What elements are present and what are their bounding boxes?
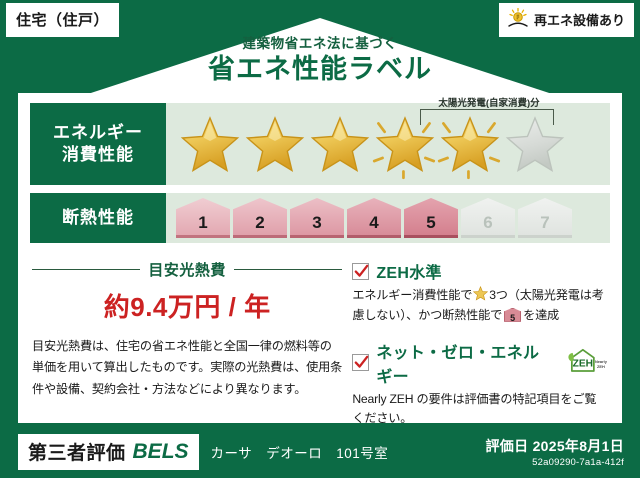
main-panel: エネルギー 消費性能 太陽光発電(自家消費)分 [18,93,622,423]
title-subtitle: 建築物省エネ法に基づく [0,36,640,52]
svg-text:ZEH: ZEH [573,358,593,369]
insulation-level-6: 6 [461,198,515,238]
net-zero-energy-block: ネット・ゼロ・エネルギー ZEH Nearly ZEH Nearly ZEH の… [352,339,608,430]
zeh-standard-header: ZEH水準 [352,259,608,283]
certification-column: ZEH水準 エネルギー消費性能で3つ（太陽光発電は考慮しない）、かつ断熱性能で5… [352,257,608,429]
solar-bracket-label: 太陽光発電(自家消費)分 [404,95,574,109]
mini-star-icon [473,286,488,301]
insulation-level-scale: 1 2 3 4 5 [166,198,572,238]
bels-en-label: BELS [133,440,189,464]
net-zero-header: ネット・ゼロ・エネルギー ZEH Nearly ZEH [352,339,608,387]
energy-performance-row: エネルギー 消費性能 太陽光発電(自家消費)分 [30,103,610,185]
energy-label-line1: エネルギー [53,122,143,144]
insulation-level-4: 4 [347,198,401,238]
star-6-empty [503,116,566,178]
bels-jp-label: 第三者評価 [28,438,126,465]
insulation-level-3: 3 [290,198,344,238]
zeh-desc-part1: エネルギー消費性能で [352,288,472,302]
insulation-level-number: 3 [290,198,344,238]
insulation-level-number: 2 [233,198,287,238]
rule-left [32,269,140,271]
net-zero-desc: Nearly ZEH の要件は評価書の特記項目をご覧ください。 [352,390,608,430]
net-zero-title: ネット・ゼロ・エネルギー [376,339,554,387]
insulation-level-number: 4 [347,198,401,238]
zeh-standard-title: ZEH水準 [376,259,442,283]
insulation-level-number: 6 [461,198,515,238]
utility-cost-value: 約9.4万円 / 年 [32,287,342,324]
property-name: カーサ デオーロ 101号室 [211,442,389,462]
star-5-solar [438,116,501,178]
utility-cost-heading-row: 目安光熱費 [32,259,342,280]
footer-bar: 第三者評価 BELS カーサ デオーロ 101号室 評価日 2025年8月1日 … [0,426,640,478]
star-3 [308,116,371,178]
renewable-equipment-tag: 再エネ設備あり [499,3,634,37]
checkbox-zeh-standard[interactable] [352,263,369,280]
utility-cost-column: 目安光熱費 約9.4万円 / 年 目安光熱費は、住宅の省エネ性能と全国一律の燃料… [32,257,342,429]
sun-icon [507,8,529,31]
bels-badge: 第三者評価 BELS [18,434,199,470]
zeh-desc-part2: を達成 [523,308,559,322]
lower-section: 目安光熱費 約9.4万円 / 年 目安光熱費は、住宅の省エネ性能と全国一律の燃料… [32,257,608,429]
energy-label-line2: 消費性能 [53,144,143,166]
star-1 [178,116,241,178]
evaluation-date: 評価日 2025年8月1日 [485,436,624,456]
housing-type-tag: 住宅（住戸） [6,3,119,37]
insulation-level-number: 1 [176,198,230,238]
insulation-level-5: 5 [404,198,458,238]
insulation-level-2: 2 [233,198,287,238]
label-title: 建築物省エネ法に基づく 省エネ性能ラベル [0,36,640,87]
check-icon [354,264,369,279]
insulation-performance-row: 断熱性能 1 2 3 [30,193,610,243]
utility-cost-heading: 目安光熱費 [148,259,226,280]
insulation-level-number: 5 [404,198,458,238]
checkbox-net-zero-energy[interactable] [352,354,369,371]
zeh-standard-desc: エネルギー消費性能で3つ（太陽光発電は考慮しない）、かつ断熱性能で5を達成 [352,286,608,326]
utility-cost-note: 目安光熱費は、住宅の省エネ性能と全国一律の燃料等の単価を用いて算出したものです。… [32,336,342,400]
zeh-standard-block: ZEH水準 エネルギー消費性能で3つ（太陽光発電は考慮しない）、かつ断熱性能で5… [352,259,608,326]
check-icon [354,355,369,370]
insulation-level-7: 7 [518,198,572,238]
star-rating [166,116,566,178]
rule-right [234,269,342,271]
insulation-level-1: 1 [176,198,230,238]
star-2 [243,116,306,178]
energy-label-root: 住宅（住戸） 再エネ設備あり 建築物省エネ法に基づく 省エネ性能ラベル [0,0,640,478]
evaluation-id: 52a09290-7a1a-412f [485,457,624,468]
zeh-badge-icon: ZEH Nearly ZEH [564,347,608,378]
energy-stars-area: 太陽光発電(自家消費)分 [166,103,610,185]
housing-type-label: 住宅（住戸） [16,12,109,29]
renewable-equipment-label: 再エネ設備あり [534,10,625,29]
star-4-solar [373,116,436,178]
title-main: 省エネ性能ラベル [0,53,640,87]
insulation-performance-label: 断熱性能 [30,193,166,243]
mini-house-icon: 5 [504,308,521,322]
insulation-levels-area: 1 2 3 4 5 [166,193,610,243]
evaluation-info: 評価日 2025年8月1日 52a09290-7a1a-412f [485,436,624,468]
svg-text:ZEH: ZEH [597,364,605,369]
energy-performance-label: エネルギー 消費性能 [30,103,166,185]
insulation-level-number: 7 [518,198,572,238]
